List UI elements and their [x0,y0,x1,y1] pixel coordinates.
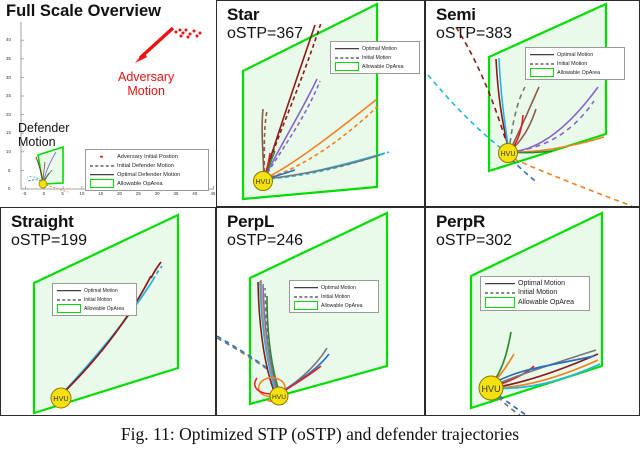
panel-grid: Full Scale Overview [0,0,640,416]
panel-full-scale-overview: Full Scale Overview [0,0,216,207]
green-box-icon [56,304,82,313]
legend-label: Allowable OpArea [319,303,363,309]
legend-label: Allowable OpArea [555,70,600,76]
y-tick-40: 40 [6,37,11,42]
hvu-label: HVU [53,394,68,403]
adversary-initial-positions [175,29,202,39]
legend-label: Optimal Defender Motion [115,172,180,178]
legend-item-optimal-motion: Optimal Motion [56,286,133,295]
legend-item-allowable-oparea: Allowable OpArea [334,62,416,71]
legend-perpl: Optimal Motion Initial Motion Allowable … [289,280,379,313]
panel-perpl: PerpL oSTP=246 [216,207,425,416]
defender-motion-label: Defender Motion [18,121,69,150]
x-tick--5: -5 [23,191,27,196]
star-plot: HVU [217,1,424,206]
hvu-label: HVU [501,151,516,158]
legend-label: Allowable OpArea [516,299,574,306]
legend-item-initial-motion: Initial Motion [484,288,586,297]
x-tick-5: 5 [61,191,63,196]
y-tick-25: 25 [6,93,11,98]
adversary-dot-icon [89,152,115,161]
legend-item-initial-motion: Initial Motion [334,53,416,62]
legend-perpr: Optimal Motion Initial Motion Allowable … [480,276,590,311]
legend-item-initial-motion: Initial Motion [529,59,621,68]
legend-label: Initial Motion [82,297,112,303]
green-box-icon [529,68,555,77]
adversary-motion-label: Adversary Motion [118,70,174,99]
adversary-motion-label-line2: Motion [118,84,174,98]
legend-item-optimal-motion: Optimal Motion [484,279,586,288]
dashed-line-icon [56,295,82,304]
legend-label: Optimal Motion [82,288,118,294]
legend-semi: Optimal Motion Initial Motion Allowable … [525,47,625,80]
legend-item-optimal-motion: Optimal Motion [529,50,621,59]
solid-line-icon [334,44,360,53]
legend-label: Optimal Motion [555,52,593,58]
legend-item-allowable-oparea: Allowable OpArea [56,304,133,313]
legend-item-adversary-initial-position: Adversary Initial Postion [89,152,205,161]
legend-item-allowable-oparea: Allowable OpArea [89,179,205,188]
panel-perpr: PerpR oSTP=302 HVU [425,207,640,416]
y-tick-0: 0 [8,186,10,191]
green-box-icon [89,179,115,188]
solid-line-icon [293,283,319,292]
legend-label: Initial Motion [555,61,587,67]
legend-item-allowable-oparea: Allowable OpArea [293,301,375,310]
x-tick-40: 40 [192,191,197,196]
solid-line-icon [484,279,516,288]
y-tick-10: 10 [6,149,11,154]
solid-line-icon [89,170,115,179]
legend-label: Optimal Motion [360,46,397,52]
legend-item-optimal-motion: Optimal Motion [334,44,416,53]
hvu-label: HVU [481,384,500,394]
y-tick-35: 35 [6,56,11,61]
y-tick-20: 20 [6,112,11,117]
legend-item-initial-motion: Initial Motion [56,295,133,304]
green-box-icon [293,301,319,310]
dashed-line-icon [293,292,319,301]
legend-label: Optimal Motion [516,280,565,287]
panel-straight: Straight oSTP=199 HVU Optimal Motion [0,207,216,416]
legend-star: Optimal Motion Initial Motion Allowable … [330,41,420,74]
hvu-label: HVU [272,394,286,401]
legend-overview: Adversary Initial Postion Initial Defend… [85,149,209,191]
dashed-line-icon [334,53,360,62]
y-tick-30: 30 [6,75,11,80]
legend-label: Allowable OpArea [115,181,163,187]
hvu-marker [39,180,47,188]
x-tick-35: 35 [174,191,179,196]
adversary-motion-arrow [135,28,173,63]
legend-label: Initial Motion [319,294,350,300]
perpr-plot: HVU [426,208,639,415]
x-tick-0: 0 [43,191,45,196]
legend-label: Allowable OpArea [82,306,124,312]
y-tick-5: 5 [8,168,10,173]
legend-label: Initial Motion [360,55,391,61]
defender-motion-label-line2: Motion [18,135,69,149]
legend-label: Initial Defender Motion [115,163,174,169]
x-tick-15: 15 [98,191,103,196]
adversary-motion-label-line1: Adversary [118,70,174,84]
x-tick-25: 25 [136,191,141,196]
dashed-line-icon [89,161,115,170]
dashed-line-icon [529,59,555,68]
legend-item-initial-defender-motion: Initial Defender Motion [89,161,205,170]
dashed-line-icon [484,288,516,297]
legend-label: Initial Motion [516,289,557,296]
x-tick-30: 30 [155,191,160,196]
x-tick-20: 20 [117,191,122,196]
panel-star: Star oSTP=367 [216,0,425,207]
hvu-label: HVU [256,179,271,186]
legend-item-allowable-oparea: Allowable OpArea [529,68,621,77]
green-box-icon [334,62,360,71]
legend-item-initial-motion: Initial Motion [293,292,375,301]
legend-item-optimal-defender-motion: Optimal Defender Motion [89,170,205,179]
legend-item-allowable-oparea: Allowable OpArea [484,297,586,308]
figure-container: Full Scale Overview [0,0,640,454]
legend-item-optimal-motion: Optimal Motion [293,283,375,292]
solid-line-icon [56,286,82,295]
legend-label: Allowable OpArea [360,64,404,70]
overview-oparea [38,147,63,184]
defender-motion-label-line1: Defender [18,121,69,135]
figure-caption: Fig. 11: Optimized STP (oSTP) and defend… [0,424,640,445]
solid-line-icon [529,50,555,59]
panel-semi: Semi oSTP=383 [425,0,640,207]
x-tick-45: 45 [211,191,216,196]
semi-plot: HVU [426,1,639,206]
green-box-icon [484,297,516,308]
legend-straight: Optimal Motion Initial Motion Allowable … [52,283,137,316]
legend-label: Adversary Initial Postion [115,154,178,160]
x-tick-10: 10 [80,191,85,196]
legend-label: Optimal Motion [319,285,356,291]
y-tick-15: 15 [6,130,11,135]
